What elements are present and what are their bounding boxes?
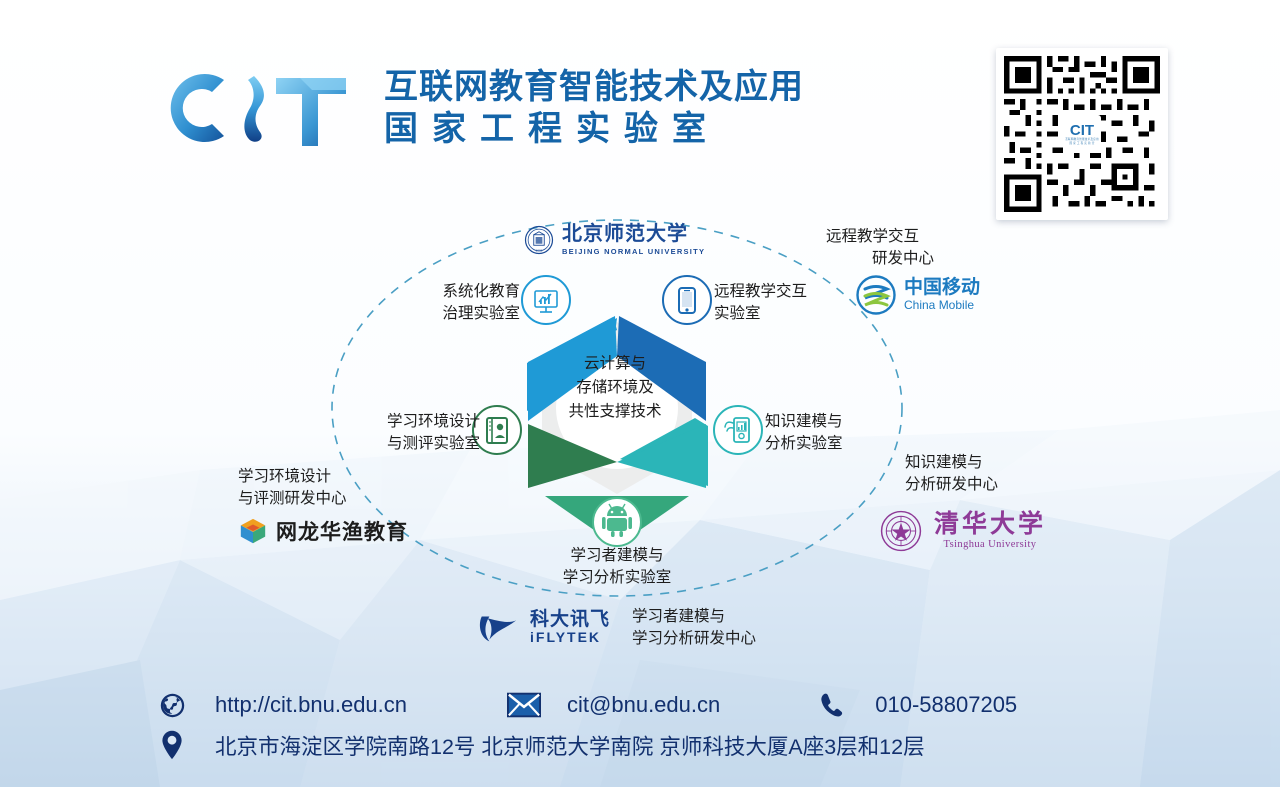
- iflytek-title-line2: 学习分析研发中心: [632, 628, 756, 650]
- address-text: 北京市海淀区学院南路12号 北京师范大学南院 京师科技大厦A座3层和12层: [215, 730, 925, 761]
- iflytek-en: iFLYTEK: [530, 630, 610, 645]
- partner-china-mobile: 远程教学交互 研发中心 中国移动 China Mobile: [826, 226, 980, 315]
- petal-label-learning-environment: 学习环境设计 与测评实验室: [340, 411, 480, 455]
- center-line3: 共性支撑技术: [540, 400, 690, 424]
- envelope-icon: [507, 692, 541, 718]
- qr-code[interactable]: CIT 互联网教育智能技术及应用 国 家 工 程 实 验 室: [996, 48, 1168, 220]
- bnu-seal-logo: 1902: [524, 225, 554, 255]
- netdragon-title-line1: 学习环境设计: [238, 466, 408, 488]
- email-text[interactable]: cit@bnu.edu.cn: [567, 692, 720, 718]
- china-mobile-logo: [856, 275, 896, 315]
- lab-name-line2: 国家工程实验室: [384, 110, 804, 148]
- iflytek-cn: 科大讯飞: [530, 610, 610, 630]
- partner-iflytek: 科大讯飞 iFLYTEK 学习者建模与 学习分析研发中心: [476, 606, 756, 650]
- petal-label-systematized-education: 系统化教育 治理实验室: [360, 281, 520, 325]
- petal-label-line2: 学习分析实验室: [527, 567, 707, 589]
- center-core-technology-label: 云计算与 存储环境及 共性支撑技术: [540, 352, 690, 424]
- petal-label-knowledge-modeling: 知识建模与 分析实验室: [765, 411, 843, 455]
- petal-label-line1: 系统化教育: [360, 281, 520, 303]
- petal-label-line2: 治理实验室: [360, 303, 520, 325]
- phone-text[interactable]: 010-58807205: [875, 692, 1017, 718]
- petal-label-line1: 远程教学交互: [714, 281, 807, 303]
- footer-contact-bar: http://cit.bnu.edu.cn cit@bnu.edu.cn 010…: [0, 685, 1280, 765]
- china-mobile-title-line1: 远程教学交互: [826, 226, 980, 248]
- center-line1: 云计算与: [540, 352, 690, 376]
- petal-label-line1: 学习者建模与: [527, 545, 707, 567]
- website-text[interactable]: http://cit.bnu.edu.cn: [215, 692, 407, 718]
- globe-icon: [155, 692, 189, 719]
- bnu-logo-en: BEIJING NORMAL UNIVERSITY: [562, 247, 705, 256]
- header: 互联网教育智能技术及应用 国家工程实验室: [150, 58, 804, 158]
- tsinghua-cn: 清华大学: [934, 512, 1046, 538]
- china-mobile-cn: 中国移动: [904, 278, 980, 299]
- svg-text:1902: 1902: [536, 249, 543, 253]
- netdragon-cn: 网龙华渔教育: [276, 516, 408, 546]
- center-line2: 存储环境及: [540, 376, 690, 400]
- petal-label-line1: 知识建模与: [765, 411, 843, 433]
- partner-netdragon: 学习环境设计 与评测研发中心 网龙华渔教育: [238, 466, 408, 546]
- qr-center-logo: CIT 互联网教育智能技术及应用 国 家 工 程 实 验 室: [1063, 115, 1101, 153]
- tsinghua-title-line2: 分析研发中心: [905, 474, 1046, 496]
- bnu-logo-cn: 北京师范大学: [562, 224, 705, 245]
- tsinghua-seal-logo: [880, 510, 922, 552]
- petal-label-line2: 实验室: [714, 303, 807, 325]
- qr-center-logo-text: CIT: [1070, 123, 1094, 138]
- petal-label-line2: 分析实验室: [765, 433, 843, 455]
- tsinghua-en: Tsinghua University: [934, 539, 1046, 550]
- netdragon-logo: [238, 516, 268, 546]
- phone-icon: [815, 691, 849, 719]
- netdragon-title-line2: 与评测研发中心: [238, 488, 408, 510]
- petal-label-learner-modeling: 学习者建模与 学习分析实验室: [527, 545, 707, 589]
- petal-label-line2: 与测评实验室: [340, 433, 480, 455]
- lab-name-line1: 互联网教育智能技术及应用: [384, 68, 804, 106]
- qr-center-logo-sub2: 国 家 工 程 实 验 室: [1069, 142, 1094, 145]
- poster-root: 互联网教育智能技术及应用 国家工程实验室: [0, 0, 1280, 787]
- map-pin-icon: [155, 730, 189, 760]
- cit-logo-icon: [150, 58, 360, 158]
- tsinghua-title-line1: 知识建模与: [905, 452, 1046, 474]
- petal-label-remote-teaching: 远程教学交互 实验室: [714, 281, 807, 325]
- partner-tsinghua: 知识建模与 分析研发中心 清华大学 Tsinghua University: [905, 452, 1046, 552]
- iflytek-title-line1: 学习者建模与: [632, 606, 756, 628]
- iflytek-logo: [476, 608, 520, 648]
- petal-label-line1: 学习环境设计: [340, 411, 480, 433]
- china-mobile-en: China Mobile: [904, 299, 980, 312]
- icon-circle-learning-environment[interactable]: [473, 406, 521, 454]
- china-mobile-title-line2: 研发中心: [826, 248, 980, 270]
- lab-name-block: 互联网教育智能技术及应用 国家工程实验室: [384, 68, 804, 148]
- partner-bnu: 1902 北京师范大学 BEIJING NORMAL UNIVERSITY: [524, 224, 705, 256]
- lab-structure-diagram: [0, 196, 1280, 666]
